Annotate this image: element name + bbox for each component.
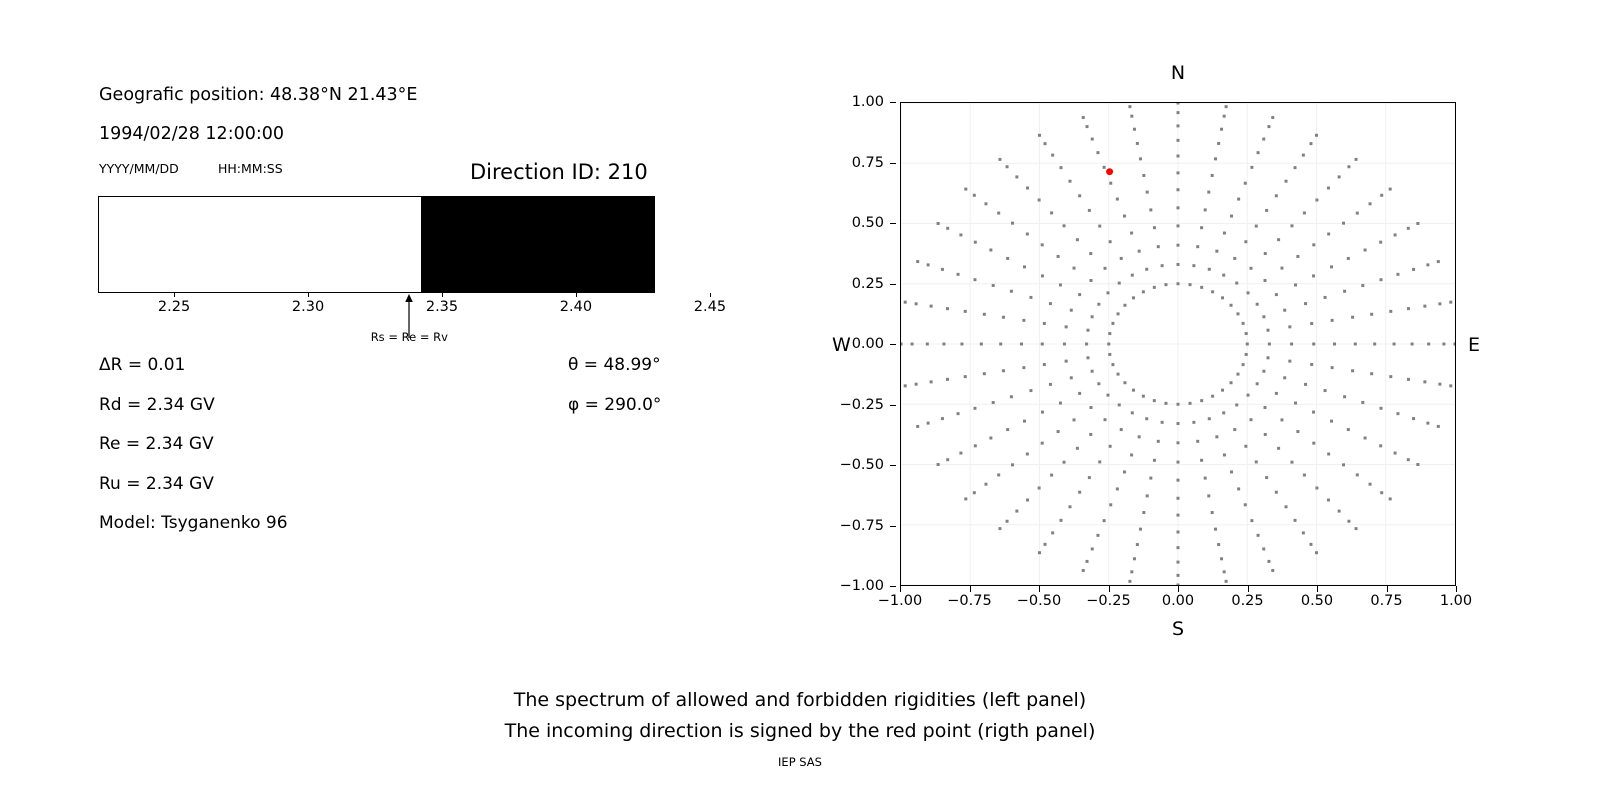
direction-point: [1245, 353, 1248, 356]
direction-point: [1312, 411, 1315, 414]
direction-point: [1086, 356, 1089, 359]
direction-point: [1207, 191, 1210, 194]
direction-point: [1354, 343, 1357, 346]
direction-point: [1312, 343, 1315, 346]
y-axis-tick: [890, 223, 896, 224]
direction-point: [927, 263, 930, 266]
direction-point: [1230, 215, 1233, 218]
direction-point: [974, 241, 977, 244]
direction-point: [941, 417, 944, 420]
direction-point: [1396, 412, 1399, 415]
direction-point: [1389, 375, 1392, 378]
direction-point: [1043, 363, 1046, 366]
direction-point: [1029, 389, 1032, 392]
direction-point: [1275, 392, 1278, 395]
direction-point: [1200, 226, 1203, 229]
direction-point: [1250, 519, 1253, 522]
direction-point: [1164, 402, 1167, 405]
y-axis-tick: [890, 284, 896, 285]
direction-point: [1089, 433, 1092, 436]
geographic-position-text: Geografic position: 48.38°N 21.43°E: [99, 85, 417, 105]
parameter-left-2: Re = 2.34 GV: [99, 434, 214, 454]
direction-point: [1153, 286, 1156, 289]
figure-caption: The spectrum of allowed and forbidden ri…: [0, 685, 1600, 747]
direction-point: [1177, 103, 1180, 104]
direction-point: [1177, 497, 1180, 500]
direction-point: [1010, 290, 1013, 293]
y-axis-tick-label: −0.50: [822, 457, 884, 473]
direction-point: [1023, 265, 1026, 268]
direction-point: [983, 313, 986, 316]
direction-point: [1020, 343, 1023, 346]
direction-point: [915, 302, 918, 305]
direction-point: [1098, 460, 1101, 463]
direction-point: [1302, 531, 1305, 534]
direction-point: [1200, 459, 1203, 462]
spectrum-tick-label: 2.45: [694, 299, 726, 315]
direction-point: [1294, 519, 1297, 522]
direction-point: [1389, 310, 1392, 313]
direction-point: [1233, 428, 1236, 431]
direction-point: [1343, 290, 1346, 293]
direction-point: [1423, 305, 1426, 308]
direction-point: [1255, 225, 1258, 228]
direction-point: [1196, 245, 1199, 248]
direction-point: [1207, 494, 1210, 497]
direction-point: [1002, 316, 1005, 319]
direction-point: [1437, 425, 1440, 428]
direction-point: [1427, 343, 1430, 346]
direction-point: [1264, 433, 1267, 436]
direction-point: [1437, 260, 1440, 263]
direction-point: [1177, 282, 1180, 285]
direction-point: [1262, 547, 1265, 550]
direction-point: [1265, 476, 1268, 479]
direction-point: [1370, 313, 1373, 316]
direction-point: [1380, 194, 1383, 197]
direction-point: [1302, 154, 1305, 157]
direction-point: [1076, 238, 1079, 241]
direction-point: [1250, 166, 1253, 169]
direction-point: [1217, 142, 1220, 145]
direction-point: [1407, 307, 1410, 310]
direction-point: [1438, 383, 1441, 386]
direction-point: [1041, 442, 1044, 445]
y-axis-tick-label: 0.25: [822, 276, 884, 292]
y-axis-tick-label: 0.50: [822, 215, 884, 231]
direction-point: [1235, 282, 1238, 285]
direction-point: [1361, 401, 1364, 404]
x-axis-tick-label: 0.75: [1370, 593, 1402, 609]
direction-point: [1389, 188, 1392, 191]
direction-point: [1108, 353, 1111, 356]
spectrum-tick-label: 2.35: [426, 299, 458, 315]
direction-point: [1002, 369, 1005, 372]
direction-point: [1059, 402, 1062, 405]
direction-point: [1333, 343, 1336, 346]
direction-point: [1006, 428, 1009, 431]
x-axis-tick-label: 0.50: [1301, 593, 1333, 609]
direction-point: [1283, 376, 1286, 379]
direction-point: [1303, 474, 1306, 477]
direction-point: [937, 222, 940, 225]
direction-point: [1029, 296, 1032, 299]
direction-point: [998, 158, 1001, 161]
direction-point: [1223, 453, 1226, 456]
direction-point: [1097, 303, 1100, 306]
direction-point: [930, 305, 933, 308]
direction-point: [1244, 445, 1247, 448]
direction-point: [1145, 417, 1148, 420]
direction-point: [1454, 343, 1455, 346]
direction-point: [1356, 473, 1359, 476]
direction-point: [1044, 543, 1047, 546]
x-axis-tick-label: −0.25: [1086, 593, 1130, 609]
spectrum-tick: [576, 293, 577, 297]
direction-point: [1275, 491, 1278, 494]
direction-point: [1355, 527, 1358, 530]
direction-point: [1078, 194, 1081, 197]
direction-point: [1177, 124, 1180, 127]
spectrum-band-forbidden: [421, 197, 656, 292]
direction-point: [1242, 363, 1245, 366]
x-axis-tick-label: −0.50: [1017, 593, 1061, 609]
selected-direction-point[interactable]: [1106, 168, 1113, 175]
direction-point: [1090, 279, 1093, 282]
direction-point: [1128, 580, 1131, 583]
direction-point: [1177, 479, 1180, 482]
direction-point: [1262, 138, 1265, 141]
direction-point: [1426, 422, 1429, 425]
direction-point: [1090, 406, 1093, 409]
direction-point: [1285, 180, 1288, 183]
direction-point: [1164, 283, 1167, 286]
direction-point: [911, 343, 914, 346]
direction-point: [1250, 267, 1253, 270]
direction-point: [1161, 264, 1164, 267]
direction-point: [1265, 209, 1268, 212]
direction-point: [1223, 570, 1226, 573]
direction-point: [1022, 366, 1025, 369]
direction-point: [1050, 211, 1053, 214]
compass-label-south: S: [1172, 618, 1184, 640]
direction-point: [1130, 232, 1133, 235]
direction-point: [904, 301, 907, 304]
direction-point: [1192, 421, 1195, 424]
direction-point: [1211, 174, 1214, 177]
direction-point: [1145, 268, 1148, 271]
direction-point: [1312, 442, 1315, 445]
date-format-hint: YYYY/MM/DD: [99, 161, 179, 176]
datetime-text: 1994/02/28 12:00:00: [99, 124, 284, 144]
direction-point: [1128, 105, 1131, 108]
direction-point: [980, 343, 983, 346]
direction-point: [1223, 232, 1226, 235]
direction-point: [964, 188, 967, 191]
y-axis-tick: [890, 163, 896, 164]
direction-point: [1136, 142, 1139, 145]
direction-point: [1327, 452, 1330, 455]
direction-point: [1177, 546, 1180, 549]
direction-point: [1189, 402, 1192, 405]
direction-point: [1059, 519, 1062, 522]
direction-point: [1221, 389, 1224, 392]
direction-point: [1086, 329, 1089, 332]
direction-point: [1351, 316, 1354, 319]
direction-point: [1068, 180, 1071, 183]
direction-point: [1200, 399, 1203, 402]
direction-point: [1257, 151, 1260, 154]
direction-point: [1103, 166, 1106, 169]
direction-point: [1142, 511, 1145, 514]
direction-point: [1049, 302, 1052, 305]
direction-point: [1208, 268, 1211, 271]
spectrum-tick: [308, 293, 309, 297]
direction-point: [941, 268, 944, 271]
direction-point: [1230, 470, 1233, 473]
direction-point: [1215, 250, 1218, 253]
direction-point: [1242, 322, 1245, 325]
spectrum-tick-label: 2.25: [158, 299, 190, 315]
x-axis-tick: [1317, 586, 1318, 592]
direction-point: [1275, 293, 1278, 296]
direction-point: [1177, 244, 1180, 247]
direction-point: [1123, 215, 1126, 218]
direction-point: [1256, 382, 1259, 385]
direction-point: [1379, 241, 1382, 244]
direction-point: [973, 194, 976, 197]
direction-point: [1136, 543, 1139, 546]
direction-point: [1236, 373, 1239, 376]
direction-point: [1177, 403, 1180, 406]
direction-point: [1177, 188, 1180, 191]
direction-point: [1103, 519, 1106, 522]
direction-point: [1275, 194, 1278, 197]
direction-point: [946, 378, 949, 381]
direction-point: [1038, 487, 1041, 490]
direction-point: [1177, 441, 1180, 444]
direction-point: [1006, 257, 1009, 260]
direction-point: [1389, 497, 1392, 500]
direction-point: [1138, 435, 1141, 438]
direction-point: [1038, 134, 1041, 137]
direction-point: [959, 452, 962, 455]
direction-point: [1380, 407, 1383, 410]
direction-point: [1290, 224, 1293, 227]
direction-point: [1393, 343, 1396, 346]
x-axis-tick-label: 1.00: [1440, 593, 1472, 609]
direction-point: [1331, 366, 1334, 369]
direction-point: [1312, 274, 1315, 277]
direction-point: [1394, 233, 1397, 236]
direction-point: [1208, 417, 1211, 420]
direction-point: [1091, 547, 1094, 550]
direction-point: [1247, 394, 1250, 397]
direction-point: [1157, 245, 1160, 248]
direction-point: [926, 343, 929, 346]
direction-point: [1364, 436, 1367, 439]
direction-point: [1116, 487, 1119, 490]
x-axis-tick: [1039, 586, 1040, 592]
direction-point: [1149, 208, 1152, 211]
direction-point: [1379, 444, 1382, 447]
direction-point: [1438, 302, 1441, 305]
direction-point: [1106, 394, 1109, 397]
direction-point: [916, 260, 919, 263]
direction-point: [1250, 418, 1253, 421]
direction-point: [1161, 421, 1164, 424]
y-axis-tick: [890, 465, 896, 466]
direction-point: [1204, 477, 1207, 480]
direction-point: [1230, 304, 1233, 307]
direction-point: [1096, 534, 1099, 537]
direction-point: [904, 384, 907, 387]
x-axis-tick: [1456, 586, 1457, 592]
direction-point: [946, 458, 949, 461]
direction-point: [1222, 274, 1225, 277]
direction-point: [1041, 274, 1044, 277]
direction-point: [1153, 459, 1156, 462]
direction-point: [1096, 151, 1099, 154]
direction-point: [1177, 206, 1180, 209]
direction-point: [1076, 447, 1079, 450]
direction-point: [1177, 514, 1180, 517]
x-axis-tick: [970, 586, 971, 592]
direction-point: [1026, 452, 1029, 455]
direction-point: [1211, 511, 1214, 514]
direction-point: [1146, 494, 1149, 497]
direction-point: [1063, 461, 1066, 464]
direction-point: [1177, 584, 1180, 585]
direction-point: [1026, 499, 1029, 502]
direction-point: [1223, 115, 1226, 118]
direction-point: [1104, 267, 1107, 270]
direction-point: [1204, 208, 1207, 211]
direction-point: [1296, 255, 1299, 258]
direction-point: [1237, 198, 1240, 201]
direction-point: [974, 444, 977, 447]
direction-point: [1271, 569, 1274, 572]
direction-point: [1177, 561, 1180, 564]
direction-point: [1342, 222, 1345, 225]
direction-point: [1073, 418, 1076, 421]
direction-point: [1057, 255, 1060, 258]
direction-point: [1407, 458, 1410, 461]
direction-point: [1130, 453, 1133, 456]
direction-point: [1449, 384, 1452, 387]
direction-point: [1267, 356, 1270, 359]
direction-point: [1296, 430, 1299, 433]
direction-point: [1347, 165, 1350, 168]
direction-point: [1038, 551, 1041, 554]
footer-credit: IEP SAS: [0, 755, 1600, 769]
rigidity-spectrum-bar: [98, 196, 655, 293]
direction-point: [1342, 463, 1345, 466]
direction-point: [1361, 284, 1364, 287]
compass-label-north: N: [1171, 62, 1185, 84]
direction-point: [1049, 383, 1052, 386]
direction-point: [1221, 296, 1224, 299]
direction-point: [1264, 252, 1267, 255]
direction-point: [1256, 303, 1259, 306]
direction-point: [1426, 263, 1429, 266]
direction-point: [1142, 290, 1145, 293]
direction-point: [1130, 570, 1133, 573]
direction-point: [1177, 224, 1180, 227]
direction-point: [1347, 257, 1350, 260]
direction-point: [1262, 315, 1265, 318]
direction-point: [957, 273, 960, 276]
parameter-right-1: φ = 290.0°: [568, 395, 661, 415]
x-axis-tick-label: 0.00: [1162, 593, 1194, 609]
direction-point: [1065, 360, 1068, 363]
direction-point: [946, 227, 949, 230]
direction-point: [1355, 158, 1358, 161]
direction-point: [1118, 282, 1121, 285]
direction-point: [1078, 293, 1081, 296]
direction-point: [1139, 157, 1142, 160]
direction-point: [1347, 520, 1350, 523]
direction-point: [1038, 199, 1041, 202]
direction-point: [1267, 560, 1270, 563]
direction-point: [946, 307, 949, 310]
direction-point: [1132, 296, 1135, 299]
direction-point: [1059, 283, 1062, 286]
direction-point: [1132, 389, 1135, 392]
direction-point: [1327, 233, 1330, 236]
direction-point: [1044, 142, 1047, 145]
direction-point: [901, 343, 902, 346]
direction-point: [1309, 142, 1312, 145]
direction-point: [1088, 476, 1091, 479]
direction-point: [1449, 301, 1452, 304]
direction-point: [1192, 264, 1195, 267]
direction-point: [942, 343, 945, 346]
direction-point: [1073, 267, 1076, 270]
direction-point: [1373, 343, 1376, 346]
direction-point: [1153, 226, 1156, 229]
direction-point: [1237, 487, 1240, 490]
direction-point: [1280, 267, 1283, 270]
direction-point: [1312, 243, 1315, 246]
direction-point: [1233, 257, 1236, 260]
y-axis-tick: [890, 405, 896, 406]
direction-point: [1315, 551, 1318, 554]
direction-point: [1006, 520, 1009, 523]
direction-point: [1222, 411, 1225, 414]
direction-point: [1043, 322, 1046, 325]
direction-point: [1230, 381, 1233, 384]
direction-point: [1041, 411, 1044, 414]
direction-point: [1215, 435, 1218, 438]
direction-point: [1369, 202, 1372, 205]
direction-point: [1236, 312, 1239, 315]
direction-point: [1010, 395, 1013, 398]
direction-point: [1085, 343, 1088, 346]
direction-point: [1177, 155, 1180, 158]
direction-point: [1177, 139, 1180, 142]
direction-point: [1041, 243, 1044, 246]
direction-point: [1157, 440, 1160, 443]
direction-point: [964, 497, 967, 500]
direction-point: [1338, 175, 1341, 178]
direction-point: [1196, 440, 1199, 443]
direction-point: [1146, 191, 1149, 194]
direction-point: [1315, 134, 1318, 137]
direction-point: [1111, 363, 1114, 366]
spectrum-tick-label: 2.30: [292, 299, 324, 315]
direction-point: [1133, 557, 1136, 560]
